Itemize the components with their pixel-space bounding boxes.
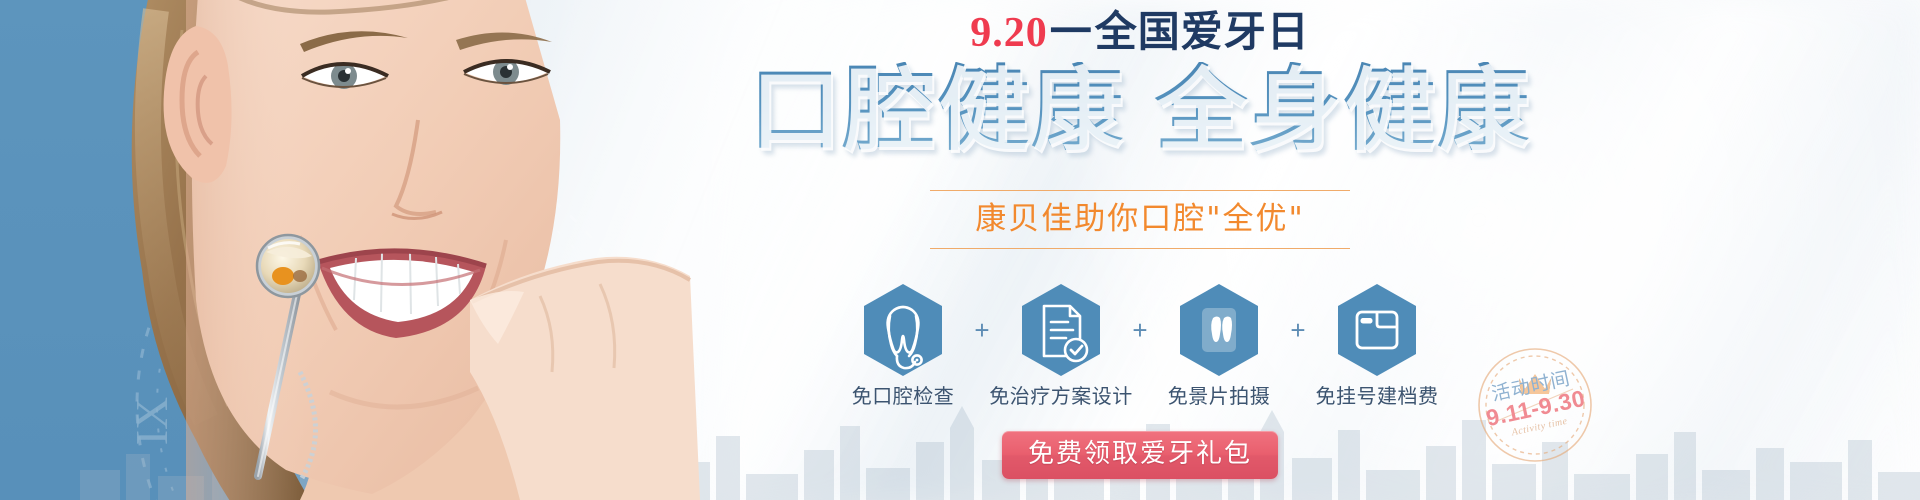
tooth-stethoscope-icon [860,282,946,378]
feature-item-treatment-plan[interactable]: 免治疗方案设计 [1002,282,1120,406]
feature-item-oral-exam[interactable]: 免口腔检查 [844,282,962,406]
feature-label: 免挂号建档费 [1316,386,1439,406]
feature-item-registration[interactable]: 免挂号建档费 [1318,282,1436,406]
claim-gift-button[interactable]: 免费领取爱牙礼包 [1002,431,1278,479]
plus-separator-2: + [1120,282,1160,378]
headline-part-2: 全身健康 [1155,56,1531,163]
feature-label: 免治疗方案设计 [989,386,1133,406]
feature-label: 免景片拍摄 [1168,386,1271,406]
dental-promo-banner: XII I II III IV V VI VII VIII IX X XI [0,0,1920,500]
file-folder-icon [1334,282,1420,378]
feature-item-xray[interactable]: 免景片拍摄 [1160,282,1278,406]
headline-part-1: 口腔健康 [749,56,1125,163]
event-name: 全国爱牙日 [1095,10,1310,56]
feature-list: 免口腔检查 + [844,282,1436,406]
subtitle-rule-box: 康贝佳助你口腔"全优" [930,190,1350,249]
plus-separator-1: + [962,282,1002,378]
subtitle: 康贝佳助你口腔"全优" [930,200,1350,239]
feature-label: 免口腔检查 [852,386,955,406]
smiling-woman-dental-mirror-photo [0,0,720,500]
eyebrow-dash: 一 [1050,10,1093,56]
eyebrow-line: 9.20一全国爱牙日 [640,12,1640,54]
xray-teeth-icon [1176,282,1262,378]
document-check-icon [1018,282,1104,378]
page-title: 口腔健康全身健康 [640,62,1640,159]
event-date: 9.20 [970,10,1048,56]
status-badge: 活动时间 9.11-9.30 Activity time [1475,345,1595,465]
plus-separator-3: + [1278,282,1318,378]
